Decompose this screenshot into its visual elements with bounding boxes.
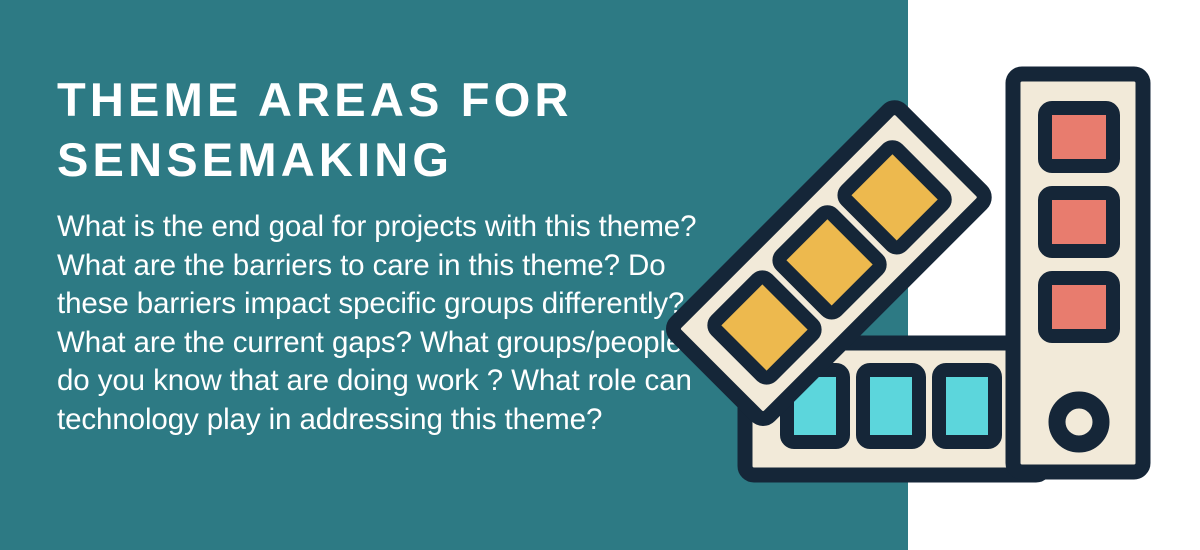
- ring-hole-icon: [1057, 400, 1101, 444]
- swatch-illustration-svg: [735, 55, 1165, 495]
- red-swatch-1: [1045, 108, 1113, 166]
- red-swatch-3: [1045, 278, 1113, 336]
- page-title: Theme Areas for Sensemaking: [57, 70, 717, 190]
- cyan-swatch-3: [939, 370, 995, 442]
- vertical-swatch-card: [1013, 74, 1143, 472]
- cyan-swatch-2: [863, 370, 919, 442]
- poster-canvas: Theme Areas for Sensemaking What is the …: [0, 0, 1200, 550]
- red-swatch-2: [1045, 193, 1113, 251]
- text-block: Theme Areas for Sensemaking What is the …: [57, 70, 717, 439]
- color-swatch-fan-deck-illustration: [735, 55, 1165, 495]
- body-copy: What is the end goal for projects with t…: [57, 208, 697, 439]
